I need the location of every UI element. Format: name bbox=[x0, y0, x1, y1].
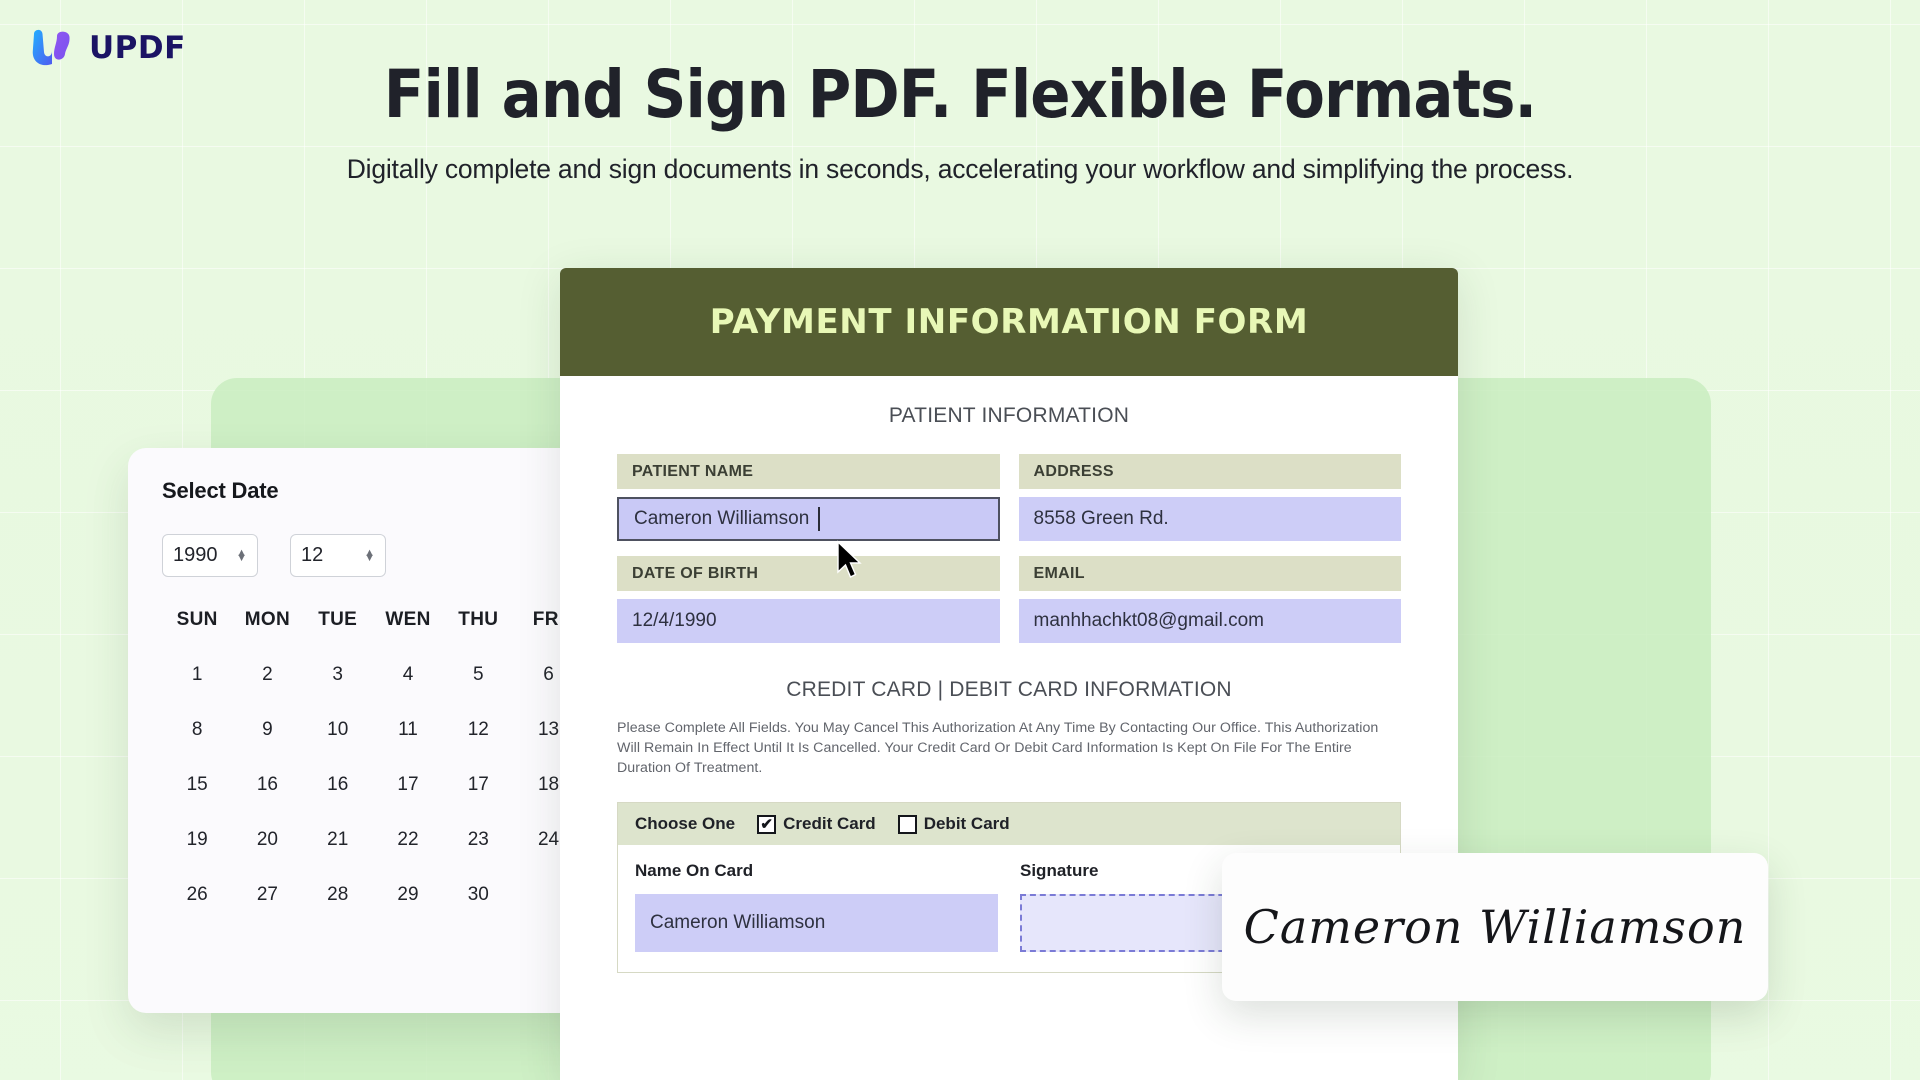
choose-one-label: Choose One bbox=[635, 814, 735, 834]
patient-name-input[interactable]: Cameron Williamson bbox=[617, 497, 1000, 541]
calendar-day[interactable]: 20 bbox=[232, 829, 302, 851]
calendar-day[interactable]: 19 bbox=[162, 829, 232, 851]
calendar-day[interactable]: 29 bbox=[373, 884, 443, 906]
month-stepper[interactable]: 12 ▲ ▼ bbox=[290, 534, 386, 577]
calendar-day[interactable]: 10 bbox=[303, 719, 373, 741]
calendar-day[interactable]: 17 bbox=[373, 774, 443, 796]
calendar-day[interactable]: 4 bbox=[373, 664, 443, 686]
calendar-day[interactable]: 5 bbox=[443, 664, 513, 686]
weekday-label: MON bbox=[232, 609, 302, 631]
calendar-day[interactable]: 21 bbox=[303, 829, 373, 851]
date-of-birth-label: DATE OF BIRTH bbox=[617, 556, 1000, 591]
address-input[interactable]: 8558 Green Rd. bbox=[1019, 497, 1402, 541]
calendar-day[interactable]: 23 bbox=[443, 829, 513, 851]
email-label: EMAIL bbox=[1019, 556, 1402, 591]
calendar-day[interactable]: 28 bbox=[303, 884, 373, 906]
weekday-label: SUN bbox=[162, 609, 232, 631]
name-on-card-value: Cameron Williamson bbox=[650, 912, 825, 934]
year-stepper[interactable]: 1990 ▲ ▼ bbox=[162, 534, 258, 577]
calendar-day[interactable]: 8 bbox=[162, 719, 232, 741]
calendar-day[interactable]: 30 bbox=[443, 884, 513, 906]
text-caret bbox=[818, 507, 820, 531]
month-value: 12 bbox=[301, 544, 323, 567]
page-title: Fill and Sign PDF. Flexible Formats. bbox=[96, 60, 1824, 130]
debit-card-option[interactable]: Debit Card bbox=[898, 814, 1010, 834]
email-input[interactable]: manhhachkt08@gmail.com bbox=[1019, 599, 1402, 643]
year-value: 1990 bbox=[173, 544, 218, 567]
form-header: PAYMENT INFORMATION FORM bbox=[560, 268, 1458, 376]
card-section-title: CREDIT CARD | DEBIT CARD INFORMATION bbox=[617, 678, 1401, 702]
calendar-day[interactable]: 9 bbox=[232, 719, 302, 741]
form-title: PAYMENT INFORMATION FORM bbox=[710, 302, 1309, 342]
debit-card-label: Debit Card bbox=[924, 814, 1010, 834]
calendar-day[interactable]: 3 bbox=[303, 664, 373, 686]
credit-card-label: Credit Card bbox=[783, 814, 876, 834]
calendar-day[interactable]: 11 bbox=[373, 719, 443, 741]
address-label: ADDRESS bbox=[1019, 454, 1402, 489]
month-stepper-arrows[interactable]: ▲ ▼ bbox=[364, 553, 375, 558]
calendar-day[interactable]: 27 bbox=[232, 884, 302, 906]
weekday-label: TUE bbox=[303, 609, 373, 631]
calendar-day[interactable]: 12 bbox=[443, 719, 513, 741]
signature-preview-card[interactable]: Cameron Williamson bbox=[1222, 853, 1768, 1001]
address-value: 8558 Green Rd. bbox=[1034, 508, 1169, 530]
hero-section: Fill and Sign PDF. Flexible Formats. Dig… bbox=[0, 60, 1920, 185]
email-value: manhhachkt08@gmail.com bbox=[1034, 610, 1265, 632]
calendar-day[interactable]: 1 bbox=[162, 664, 232, 686]
calendar-day[interactable]: 26 bbox=[162, 884, 232, 906]
patient-fields-grid: PATIENT NAME ADDRESS Cameron Williamson … bbox=[617, 454, 1401, 658]
calendar-day[interactable]: 16 bbox=[303, 774, 373, 796]
calendar-day[interactable]: 16 bbox=[232, 774, 302, 796]
calendar-day[interactable]: 22 bbox=[373, 829, 443, 851]
calendar-day[interactable]: 2 bbox=[232, 664, 302, 686]
signature-preview-text: Cameron Williamson bbox=[1244, 900, 1747, 954]
weekday-label: WEN bbox=[373, 609, 443, 631]
date-of-birth-value: 12/4/1990 bbox=[632, 610, 717, 632]
checkbox-checked-icon[interactable]: ✔ bbox=[757, 815, 776, 834]
page-subtitle: Digitally complete and sign documents in… bbox=[0, 154, 1920, 185]
credit-card-option[interactable]: ✔ Credit Card bbox=[757, 814, 876, 834]
name-on-card-label: Name On Card bbox=[635, 861, 998, 881]
year-stepper-arrows[interactable]: ▲ ▼ bbox=[236, 553, 247, 558]
patient-name-label: PATIENT NAME bbox=[617, 454, 1000, 489]
calendar-day[interactable]: 15 bbox=[162, 774, 232, 796]
authorization-disclaimer: Please Complete All Fields. You May Canc… bbox=[617, 718, 1401, 778]
checkbox-unchecked-icon[interactable] bbox=[898, 815, 917, 834]
date-of-birth-input[interactable]: 12/4/1990 bbox=[617, 599, 1000, 643]
calendar-day[interactable]: 17 bbox=[443, 774, 513, 796]
patient-section-title: PATIENT INFORMATION bbox=[617, 404, 1401, 428]
weekday-label: THU bbox=[443, 609, 513, 631]
patient-name-value: Cameron Williamson bbox=[634, 508, 809, 530]
name-on-card-input[interactable]: Cameron Williamson bbox=[635, 894, 998, 952]
choose-one-row: Choose One ✔ Credit Card Debit Card bbox=[618, 803, 1400, 845]
mouse-pointer-icon bbox=[836, 540, 866, 582]
